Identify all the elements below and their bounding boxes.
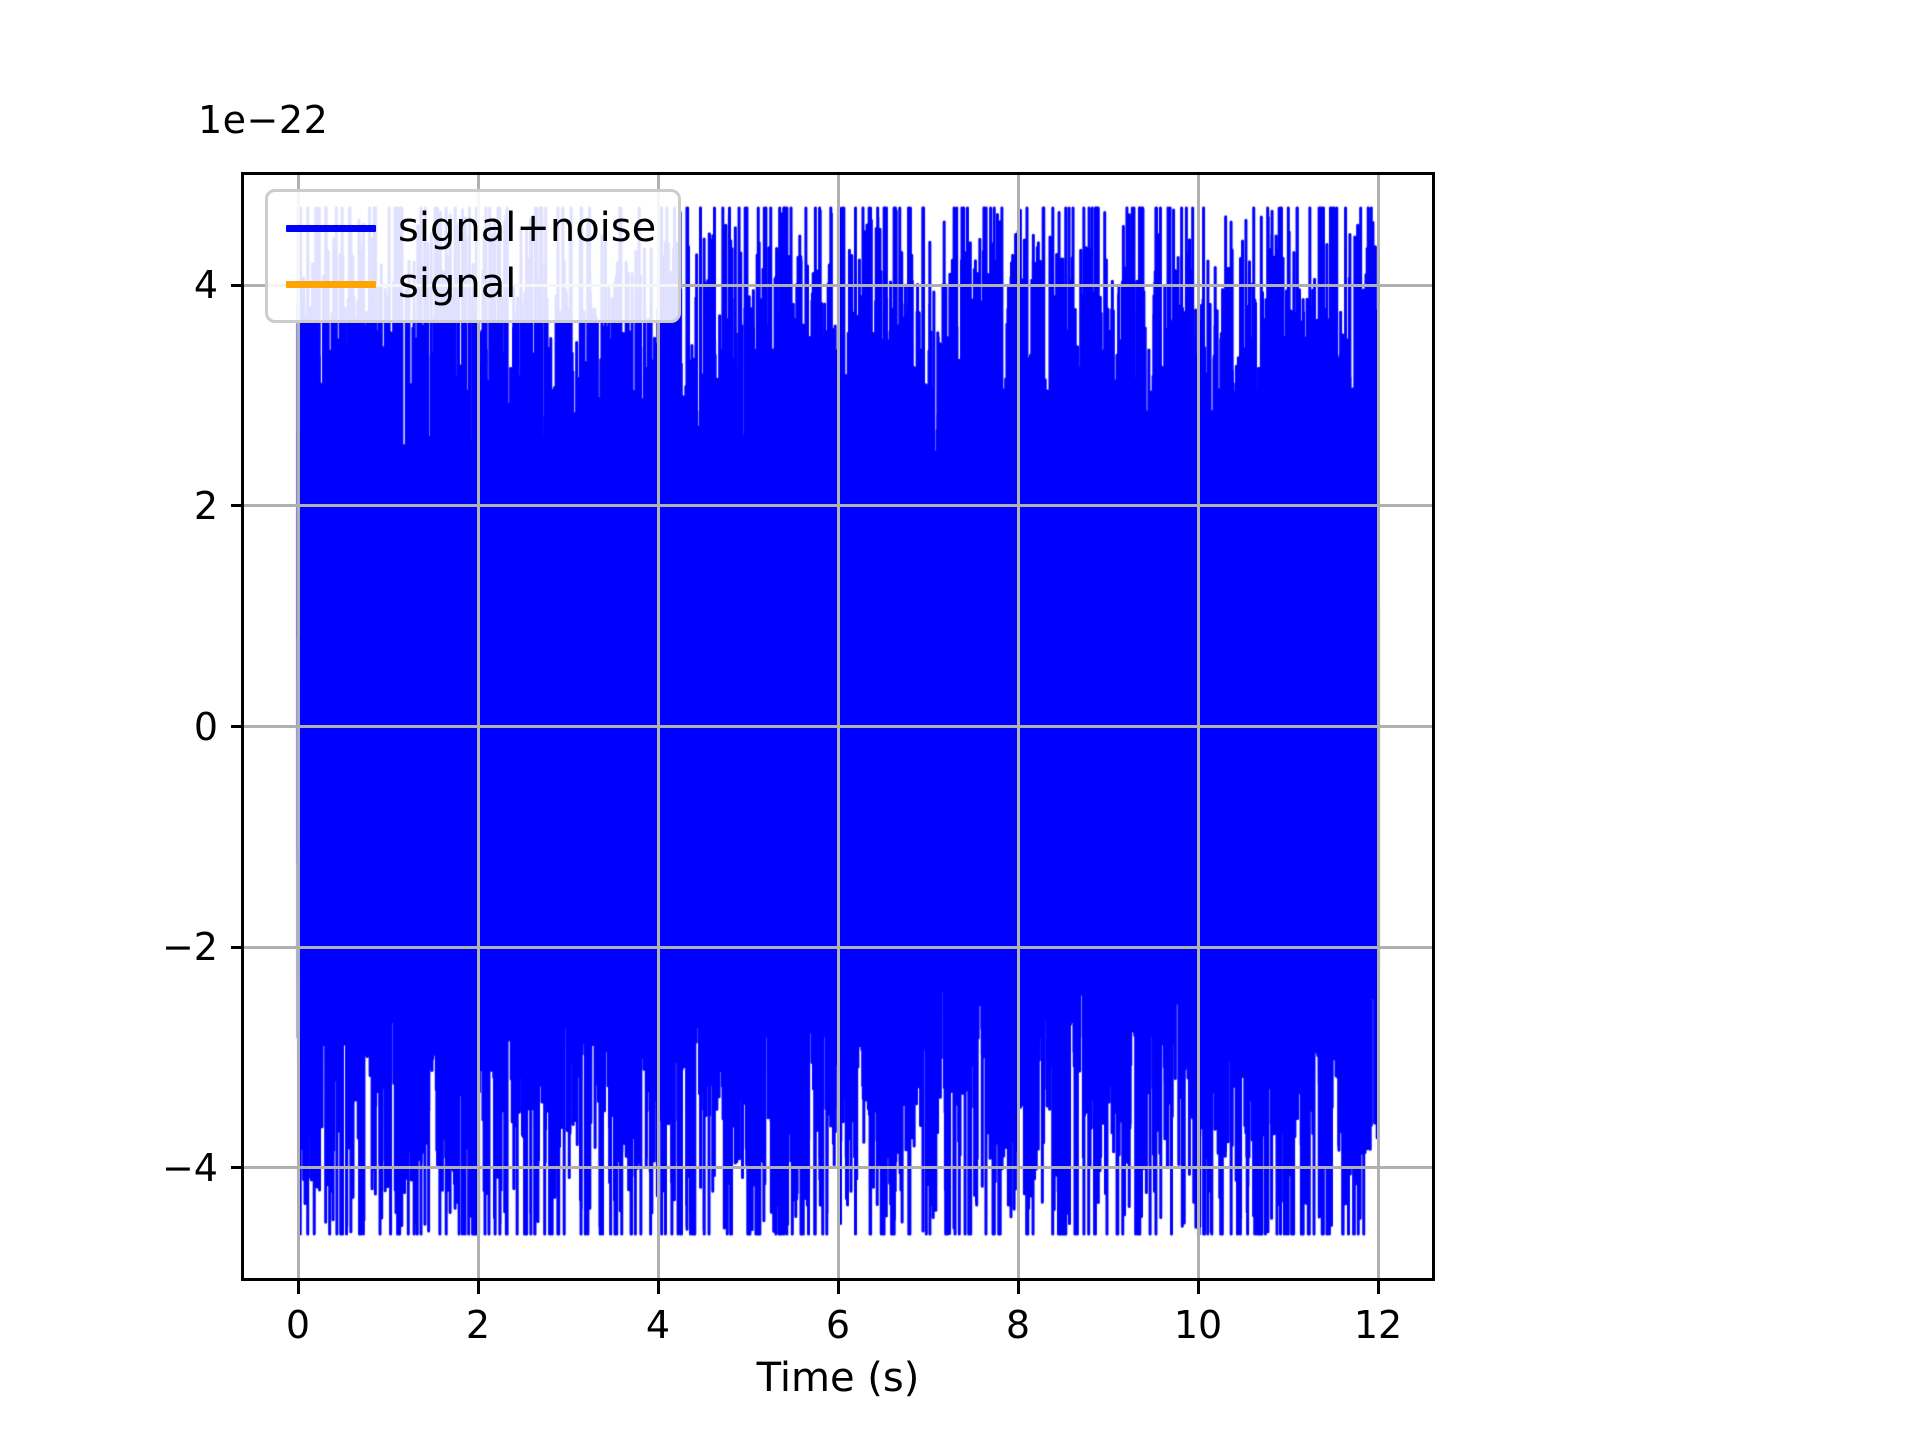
- x-tick-mark: [837, 1281, 840, 1294]
- legend-swatch-signal: [286, 281, 376, 288]
- gridline-horizontal: [244, 946, 1432, 949]
- y-tick-mark: [231, 725, 244, 728]
- legend-swatch-signal-noise: [286, 225, 376, 232]
- x-tick-label: 8: [1006, 1303, 1030, 1347]
- y-axis-offset-text: 1e−22: [198, 98, 328, 142]
- x-tick-label: 4: [646, 1303, 670, 1347]
- x-tick-mark: [477, 1281, 480, 1294]
- x-axis-label: Time (s): [757, 1355, 920, 1401]
- plot-axes: 024681012−4−2024 signal+noise signal: [241, 172, 1435, 1281]
- y-tick-label: −2: [162, 925, 218, 969]
- x-tick-label: 12: [1354, 1303, 1402, 1347]
- gridline-horizontal: [244, 504, 1432, 507]
- legend-box[interactable]: signal+noise signal: [265, 189, 681, 323]
- x-tick-label: 6: [826, 1303, 850, 1347]
- legend-label-signal-noise: signal+noise: [398, 208, 656, 248]
- x-tick-mark: [1377, 1281, 1380, 1294]
- y-tick-label: 4: [194, 263, 218, 307]
- y-tick-label: 2: [194, 484, 218, 528]
- legend-entry-signal[interactable]: signal: [286, 264, 656, 304]
- x-tick-label: 10: [1174, 1303, 1222, 1347]
- y-tick-label: −4: [162, 1146, 218, 1190]
- y-tick-mark: [231, 1166, 244, 1169]
- x-tick-label: 0: [286, 1303, 310, 1347]
- x-tick-mark: [657, 1281, 660, 1294]
- x-tick-mark: [297, 1281, 300, 1294]
- x-tick-label: 2: [466, 1303, 490, 1347]
- gridline-horizontal: [244, 725, 1432, 728]
- x-tick-mark: [1197, 1281, 1200, 1294]
- x-tick-mark: [1017, 1281, 1020, 1294]
- figure-canvas: 1e−22 024681012−4−2024 signal+noise sign…: [0, 0, 1920, 1440]
- y-tick-mark: [231, 504, 244, 507]
- y-tick-label: 0: [194, 705, 218, 749]
- gridline-horizontal: [244, 1166, 1432, 1169]
- legend-label-signal: signal: [398, 264, 516, 304]
- y-tick-mark: [231, 284, 244, 287]
- legend-entry-signal-noise[interactable]: signal+noise: [286, 208, 656, 248]
- y-tick-mark: [231, 946, 244, 949]
